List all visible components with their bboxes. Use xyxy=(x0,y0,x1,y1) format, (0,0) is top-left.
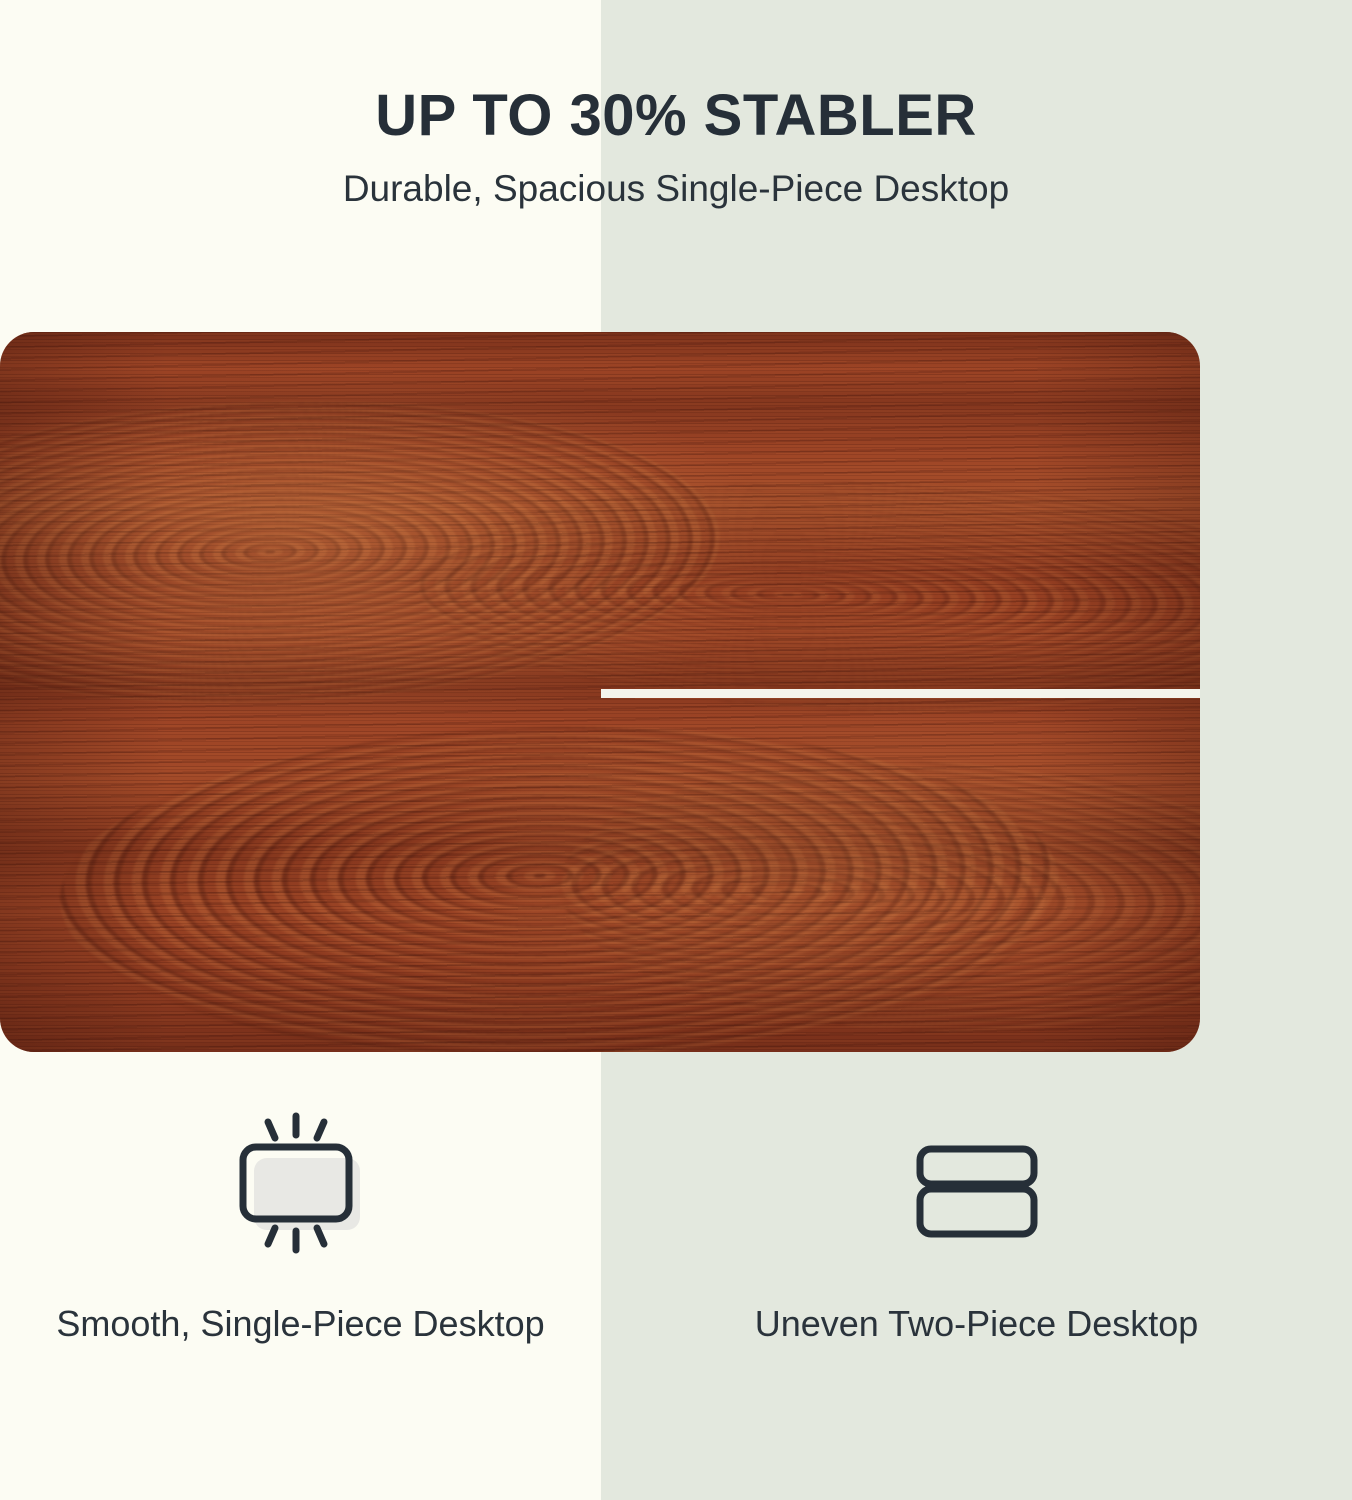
page-title: UP TO 30% STABLER xyxy=(0,0,1352,147)
two-piece-desktop-icon xyxy=(912,1123,1042,1253)
two-piece-caption: Uneven Two-Piece Desktop xyxy=(755,1275,1199,1347)
desktop-seam-line xyxy=(601,689,1200,698)
two-piece-icon-slot xyxy=(912,1100,1042,1275)
single-piece-caption: Smooth, Single-Piece Desktop xyxy=(56,1275,544,1347)
comparison-column-single-piece: Smooth, Single-Piece Desktop xyxy=(0,1100,601,1500)
comparison-column-two-piece: Uneven Two-Piece Desktop xyxy=(601,1100,1352,1500)
single-piece-desktop-icon xyxy=(226,1108,376,1268)
header: UP TO 30% STABLER Durable, Spacious Sing… xyxy=(0,0,1352,211)
page-subtitle: Durable, Spacious Single-Piece Desktop xyxy=(0,147,1352,211)
single-piece-icon-slot xyxy=(226,1100,376,1275)
infographic-panel: UP TO 30% STABLER Durable, Spacious Sing… xyxy=(0,0,1352,1500)
comparison-row: Smooth, Single-Piece Desktop Uneven Two-… xyxy=(0,1100,1352,1500)
